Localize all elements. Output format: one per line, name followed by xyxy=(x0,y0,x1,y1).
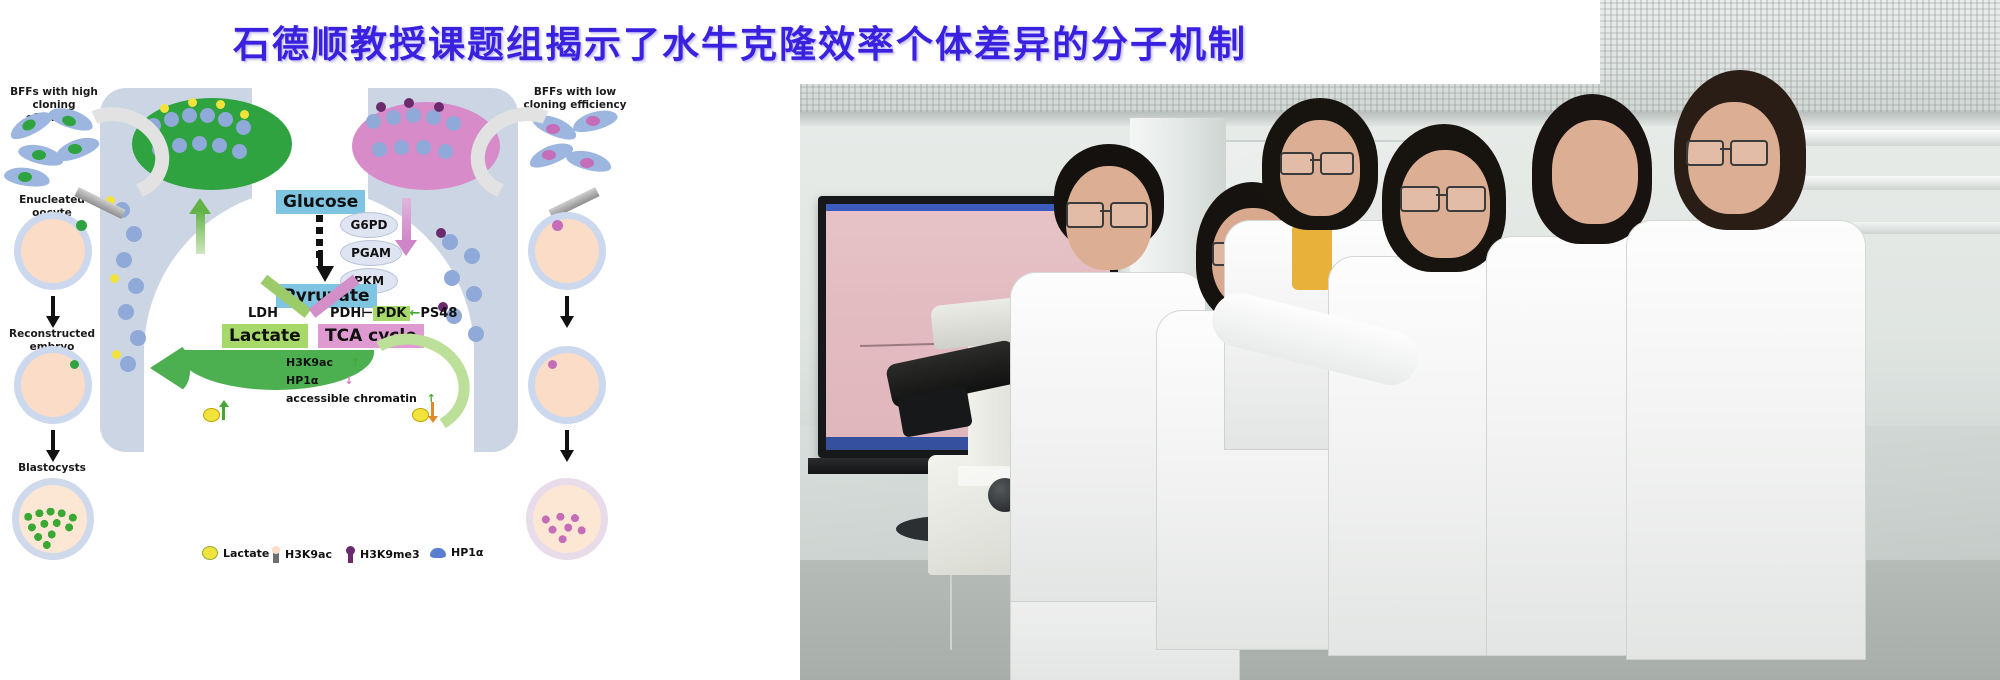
h3k9me3-mark xyxy=(376,102,386,112)
h3k9me3-mark xyxy=(404,98,414,108)
feedback-arrow-head xyxy=(150,342,190,394)
legend-hp1a-swatch xyxy=(430,548,446,558)
lab-coat xyxy=(1626,220,1866,660)
nucleosome xyxy=(236,120,251,135)
glucose-label: Glucose xyxy=(276,190,365,214)
legend-lactate-label: Lactate xyxy=(223,547,269,560)
blastocysts-label: Blastocysts xyxy=(0,462,104,475)
pathway-arrow-head xyxy=(316,266,334,282)
glasses-bridge xyxy=(1100,210,1110,212)
upregulation-arrow xyxy=(196,210,205,254)
glasses-right xyxy=(1110,202,1148,228)
nucleosome xyxy=(444,270,460,286)
lactate-dot xyxy=(110,274,119,283)
legend-hp1a-label: HP1α xyxy=(451,546,483,559)
mark-name: HP1α xyxy=(286,374,318,387)
legend-lactate-swatch xyxy=(202,546,218,560)
flow-arrow-stem xyxy=(51,430,55,452)
bff-nucleus xyxy=(580,158,594,168)
flow-arrow-head xyxy=(560,316,574,328)
nucleosome xyxy=(172,138,187,153)
lactate-dot xyxy=(188,98,197,107)
pathway-dash xyxy=(316,215,323,222)
activate-symbol: ← xyxy=(410,306,421,321)
schematic-figure: Glucose G6PD PGAM PKM Pyruvate LDH PDH⊢P… xyxy=(0,84,800,680)
enzyme-g6pd: G6PD xyxy=(340,212,398,238)
legend-hp1a: HP1α xyxy=(430,546,483,559)
nucleosome xyxy=(130,330,146,346)
lactate-dot xyxy=(112,350,121,359)
inhibit-symbol: ⊢ xyxy=(361,306,373,321)
nucleosome xyxy=(120,356,136,372)
nucleosome xyxy=(372,142,387,157)
flow-arrow-stem xyxy=(565,296,569,318)
oocyte-inner xyxy=(535,219,599,283)
nucleosome xyxy=(232,144,247,159)
ps48-text: PS48 xyxy=(420,306,457,321)
screenshot-root: 石德顺教授课题组揭示了水牛克隆效率个体差异的分子机制 xyxy=(0,0,2000,680)
legend-h3k9ac: H3K9ac xyxy=(272,546,332,563)
nucleosome xyxy=(192,136,207,151)
nucleosome xyxy=(366,114,381,129)
nucleosome xyxy=(466,286,482,302)
pdh-text: PDH xyxy=(330,306,361,321)
bff-nucleus xyxy=(18,172,32,182)
donor-nucleus xyxy=(552,220,563,231)
nucleosome xyxy=(446,116,461,131)
h3k9me3-mark xyxy=(436,228,446,238)
downregulation-arrow-head xyxy=(395,240,417,256)
legend-h3k9me3-label: H3K9me3 xyxy=(360,548,420,561)
banner-fade xyxy=(1480,0,1600,84)
mark-row-hp1a: HP1α ↓ xyxy=(286,374,354,387)
nucleosome xyxy=(128,278,144,294)
ldh-label: LDH xyxy=(248,306,278,321)
bff-nucleus xyxy=(32,150,46,160)
nucleosome xyxy=(164,112,179,127)
nucleosome xyxy=(118,304,134,320)
lactate-dot xyxy=(216,100,225,109)
nucleosome xyxy=(116,252,132,268)
glasses-bridge xyxy=(1720,148,1730,150)
title-banner: 石德顺教授课题组揭示了水牛克隆效率个体差异的分子机制 xyxy=(0,0,1600,84)
nucleosome xyxy=(394,140,409,155)
nucleosome xyxy=(386,110,401,125)
glasses-bridge xyxy=(1310,159,1320,161)
page-title: 石德顺教授课题组揭示了水牛克隆效率个体差异的分子机制 xyxy=(0,14,1480,68)
nucleosome xyxy=(426,110,441,125)
lactate-up-arrow-head-left xyxy=(219,400,229,407)
embryo-nucleus xyxy=(548,360,557,369)
legend-h3k9me3-swatch xyxy=(346,546,355,563)
enzyme-pgam: PGAM xyxy=(340,240,402,266)
nucleosome xyxy=(438,144,453,159)
glasses-left xyxy=(1066,202,1104,228)
nucleosome xyxy=(212,138,227,153)
oocyte-inner xyxy=(21,219,85,283)
mark-direction: ↑ xyxy=(351,356,360,369)
embryo-nucleus xyxy=(70,360,79,369)
glasses-bridge xyxy=(1436,194,1446,196)
downregulation-arrow xyxy=(402,198,411,242)
pdk-text: PDK xyxy=(373,306,409,321)
ldh-text: LDH xyxy=(248,306,278,321)
mark-name: H3K9ac xyxy=(286,356,333,369)
lactate-indicator-right xyxy=(412,408,429,422)
glasses-right xyxy=(1730,140,1768,166)
glasses-left xyxy=(1686,140,1724,166)
nucleosome xyxy=(406,108,421,123)
flow-arrow-head xyxy=(46,450,60,462)
bff-low-line1: BFFs with low xyxy=(520,86,630,99)
flow-arrow-head xyxy=(560,450,574,462)
flow-arrow-stem xyxy=(51,296,55,318)
bff-high-line1: BFFs with high xyxy=(4,86,104,99)
pdk-axis: PDH⊢PDK←PS48 xyxy=(330,306,457,321)
nucleosome xyxy=(464,248,480,264)
mark-row-chromatin: accessible chromatin ↑ xyxy=(286,392,436,405)
glasses-right xyxy=(1320,152,1354,175)
embryo-inner xyxy=(535,353,599,417)
flow-arrow-head xyxy=(46,316,60,328)
pathway-dash xyxy=(316,239,323,246)
mark-direction: ↓ xyxy=(344,374,353,387)
glasses-left xyxy=(1280,152,1314,175)
glasses-left xyxy=(1400,186,1440,212)
lactate-down-arrow-head-right xyxy=(428,416,438,423)
legend-lactate: Lactate xyxy=(202,546,269,560)
mark-row-h3k9ac: H3K9ac ↑ xyxy=(286,356,360,369)
glasses-right xyxy=(1446,186,1486,212)
donor-nucleus xyxy=(76,220,87,231)
nucleosome xyxy=(468,326,484,342)
nucleosome xyxy=(218,112,233,127)
h3k9me3-mark xyxy=(434,102,444,112)
nucleosome xyxy=(200,108,215,123)
face xyxy=(1552,120,1638,224)
lactate-dot xyxy=(240,110,249,119)
lab-photograph xyxy=(800,0,2000,680)
lactate-dot xyxy=(160,104,169,113)
pathway-dash xyxy=(316,227,323,234)
nucleosome xyxy=(182,108,197,123)
legend-h3k9me3: H3K9me3 xyxy=(346,546,420,563)
flow-arrow-stem xyxy=(565,430,569,452)
nucleosome xyxy=(416,140,431,155)
mark-name: accessible chromatin xyxy=(286,392,417,405)
legend-h3k9ac-swatch xyxy=(272,546,280,563)
lactate-indicator-left xyxy=(203,408,220,422)
nucleosome xyxy=(126,226,142,242)
yellow-collar xyxy=(1292,224,1332,290)
legend-h3k9ac-label: H3K9ac xyxy=(285,548,332,561)
bff-nucleus xyxy=(586,116,600,126)
